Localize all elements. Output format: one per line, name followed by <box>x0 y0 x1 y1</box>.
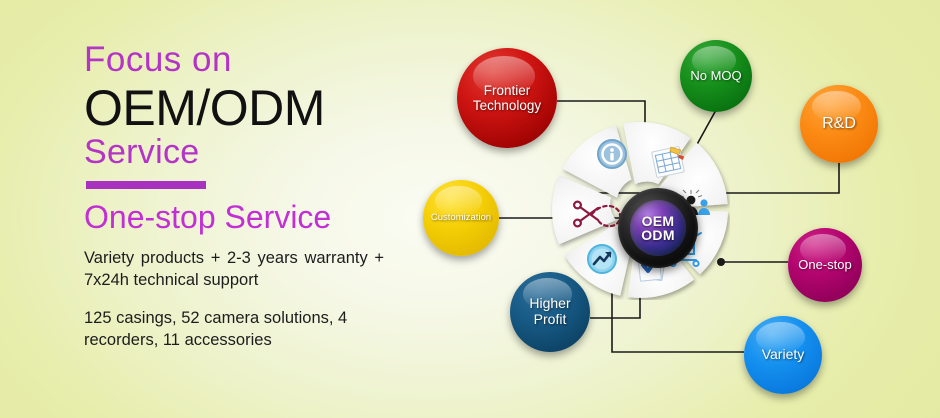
info-icon <box>598 140 626 168</box>
node-label-variety: Variety <box>759 347 808 363</box>
hub-line-1: OEM <box>642 214 675 228</box>
divider <box>86 181 206 189</box>
oem-odm-diagram: OEM ODM Frontier Technology No MOQ R&D O… <box>400 0 940 418</box>
node-rd[interactable]: R&D <box>800 85 878 163</box>
node-variety[interactable]: Variety <box>744 316 822 394</box>
node-label-one-stop: One-stop <box>795 258 854 273</box>
node-label-customization: Customization <box>428 213 494 224</box>
eyebrow-text: Focus on <box>84 42 414 77</box>
node-customization[interactable]: Customization <box>423 180 499 256</box>
hub-label: OEM ODM <box>630 200 686 256</box>
node-label-no-moq: No MOQ <box>687 69 744 84</box>
node-higher-profit[interactable]: Higher Profit <box>510 272 590 352</box>
node-one-stop[interactable]: One-stop <box>788 228 862 302</box>
node-label-rd: R&D <box>819 115 859 133</box>
page-title: OEM/ODM <box>84 83 414 133</box>
tagline-text: One-stop Service <box>84 201 414 233</box>
body-text-warranty: Variety products + 2-3 years warranty + … <box>84 247 384 292</box>
promo-banner: Focus on OEM/ODM Service One-stop Servic… <box>0 0 940 418</box>
subheadline-text: Service <box>84 135 414 171</box>
node-label-higher-profit: Higher Profit <box>510 296 590 327</box>
chart-arrow-icon <box>588 245 616 273</box>
node-frontier-technology[interactable]: Frontier Technology <box>457 48 557 148</box>
spacer <box>84 291 414 307</box>
node-no-moq[interactable]: No MOQ <box>680 40 752 112</box>
hub-camera-lens-icon: OEM ODM <box>618 188 698 268</box>
left-text-column: Focus on OEM/ODM Service One-stop Servic… <box>84 42 414 352</box>
body-text-catalog: 125 casings, 52 camera solutions, 4 reco… <box>84 307 384 352</box>
hub-line-2: ODM <box>641 228 675 242</box>
node-label-frontier-technology: Frontier Technology <box>457 83 557 113</box>
